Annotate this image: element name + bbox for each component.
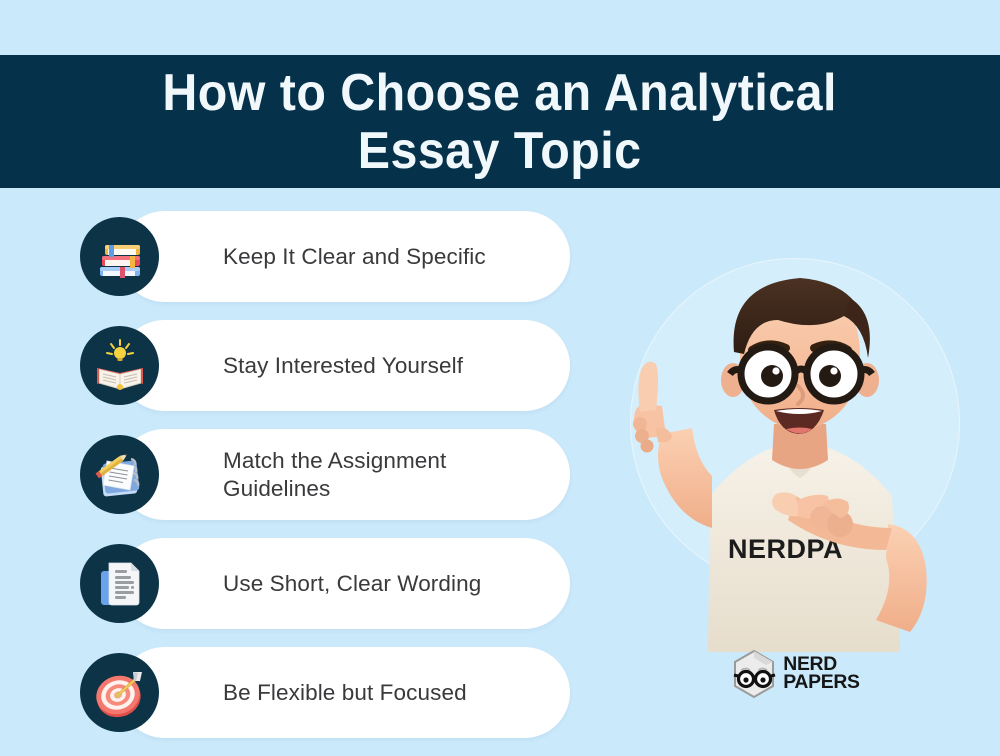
list-item[interactable]: Keep It Clear and Specific: [80, 211, 570, 302]
list-item-label: Stay Interested Yourself: [223, 352, 463, 380]
list-item[interactable]: Use Short, Clear Wording: [80, 538, 570, 629]
list-item-card[interactable]: Match the Assignment Guidelines: [119, 429, 570, 520]
tips-list: Keep It Clear and Specific: [80, 211, 570, 756]
logo-wordmark: NERD PAPERS: [783, 656, 859, 692]
list-item[interactable]: Match the Assignment Guidelines: [80, 429, 570, 520]
target-arrow-icon: [80, 653, 159, 732]
list-item-label: Keep It Clear and Specific: [223, 243, 486, 271]
list-item[interactable]: Be Flexible but Focused: [80, 647, 570, 738]
nerd-face-hexagon-icon: [728, 648, 780, 700]
list-item-label: Match the Assignment Guidelines: [223, 447, 553, 503]
list-item[interactable]: Stay Interested Yourself: [80, 320, 570, 411]
list-item-card[interactable]: Stay Interested Yourself: [119, 320, 570, 411]
character-illustration: NERDPA: [600, 228, 1000, 652]
smiling-man-pointing-character: NERDPA: [600, 228, 1000, 652]
document-pages-icon: [80, 544, 159, 623]
list-item-card[interactable]: Be Flexible but Focused: [119, 647, 570, 738]
list-item-card[interactable]: Keep It Clear and Specific: [119, 211, 570, 302]
spiral-notepad-pencil-icon: [80, 435, 159, 514]
stacked-books-icon: [80, 217, 159, 296]
brand-logo[interactable]: NERD PAPERS: [728, 645, 888, 703]
list-item-card[interactable]: Use Short, Clear Wording: [119, 538, 570, 629]
list-item-label: Use Short, Clear Wording: [223, 570, 481, 598]
header-banner: How to Choose an Analytical Essay Topic: [0, 55, 1000, 188]
open-book-lightbulb-icon: [80, 326, 159, 405]
list-item-label: Be Flexible but Focused: [223, 679, 467, 707]
page-title: How to Choose an Analytical Essay Topic: [163, 64, 837, 180]
logo-line-2: PAPERS: [783, 674, 859, 692]
